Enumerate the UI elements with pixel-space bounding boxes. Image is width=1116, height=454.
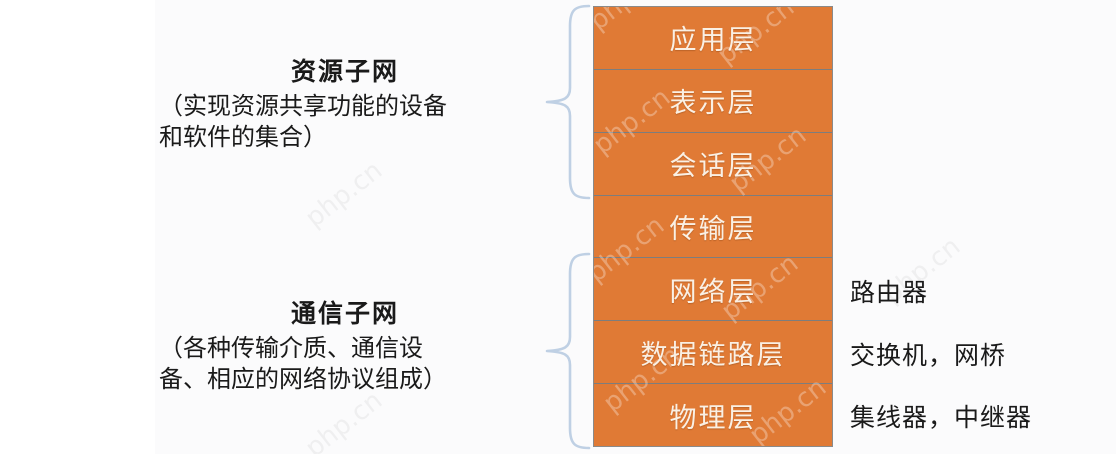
layer-label: 数据链路层: [641, 333, 786, 372]
layer-label: 物理层: [670, 396, 757, 435]
group-resource-subnet: 资源子网 （实现资源共享功能的设备 和软件的集合）: [145, 58, 545, 154]
layer-row[interactable]: 网络层: [594, 258, 832, 321]
device-label-network-layer: 路由器: [850, 273, 928, 309]
layer-label: 网络层: [670, 270, 757, 309]
layer-label: 表示层: [670, 81, 757, 120]
group-title-communication-subnet: 通信子网: [145, 300, 545, 329]
group-description-line: 备、相应的网络协议组成）: [159, 364, 545, 396]
brace-communication-subnet: [545, 252, 591, 450]
group-description-line: 和软件的集合）: [159, 122, 545, 154]
group-description-line: （各种传输介质、通信设: [159, 333, 545, 365]
group-description-communication-subnet: （各种传输介质、通信设 备、相应的网络协议组成）: [145, 333, 545, 396]
layer-row[interactable]: 物理层: [594, 384, 832, 447]
layer-label: 会话层: [670, 144, 757, 183]
group-description-resource-subnet: （实现资源共享功能的设备 和软件的集合）: [145, 91, 545, 154]
layer-label: 传输层: [670, 207, 757, 246]
device-label-physical-layer: 集线器，中继器: [850, 398, 1032, 434]
diagram-canvas: 资源子网 （实现资源共享功能的设备 和软件的集合） 通信子网 （各种传输介质、通…: [0, 0, 1116, 454]
osi-layer-stack: php.cn php.cn php.cn php.cn php.cn php.c…: [593, 6, 833, 447]
layer-row[interactable]: 数据链路层: [594, 321, 832, 384]
device-label-data-link-layer: 交换机，网桥: [850, 336, 1006, 372]
brace-icon: [545, 252, 591, 450]
group-communication-subnet: 通信子网 （各种传输介质、通信设 备、相应的网络协议组成）: [145, 300, 545, 396]
brace-icon: [545, 4, 591, 200]
group-description-line: （实现资源共享功能的设备: [159, 91, 545, 123]
layer-row[interactable]: 表示层: [594, 70, 832, 133]
layer-label: 应用层: [670, 18, 757, 57]
layer-row[interactable]: 传输层: [594, 196, 832, 259]
layer-row[interactable]: 应用层: [594, 7, 832, 70]
brace-resource-subnet: [545, 4, 591, 200]
layer-row[interactable]: 会话层: [594, 133, 832, 196]
group-title-resource-subnet: 资源子网: [145, 58, 545, 87]
